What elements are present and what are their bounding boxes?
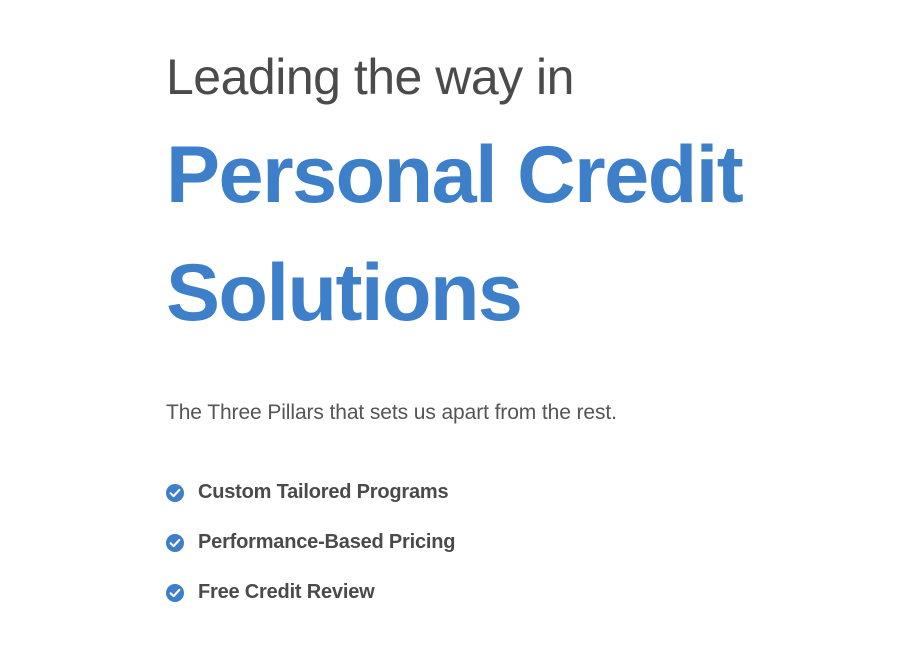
check-circle-icon [166,584,184,602]
headline-line-1: Personal Credit [166,116,906,234]
list-item: Custom Tailored Programs [166,468,910,518]
pillar-label: Custom Tailored Programs [198,481,448,504]
headline-line-2: Solutions [166,234,906,352]
list-item: Free Credit Review [166,568,910,618]
pillars-list: Custom Tailored Programs Performance-Bas… [166,468,910,618]
eyebrow-text: Leading the way in [166,52,910,102]
hero-section: Leading the way in Personal Credit Solut… [0,0,910,652]
pillar-label: Performance-Based Pricing [198,531,455,554]
list-item: Performance-Based Pricing [166,518,910,568]
check-circle-icon [166,484,184,502]
page-title: Personal Credit Solutions [166,116,906,353]
check-circle-icon [166,534,184,552]
subtitle-text: The Three Pillars that sets us apart fro… [166,399,910,426]
pillar-label: Free Credit Review [198,581,374,604]
